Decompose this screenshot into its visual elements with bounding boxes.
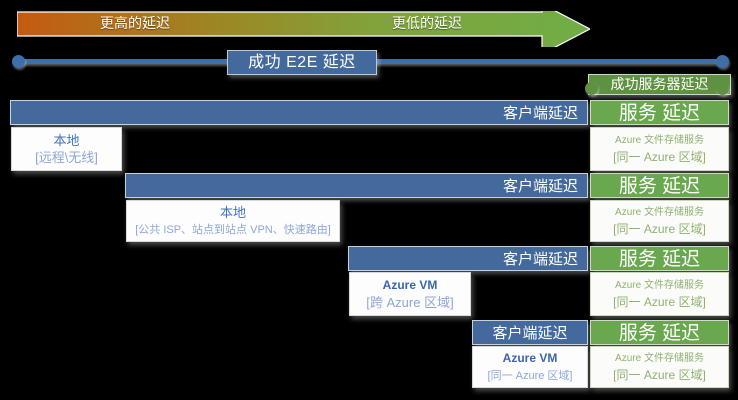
row3-client-main: Azure VM bbox=[383, 277, 438, 294]
higher-latency-label: 更高的延迟 bbox=[100, 14, 170, 32]
row2-service-main: Azure 文件存储服务 bbox=[615, 205, 704, 220]
latency-gradient-arrow: 更高的延迟 更低的延迟 bbox=[17, 11, 590, 47]
row2-client-main: 本地 bbox=[220, 204, 246, 221]
row3-service-main: Azure 文件存储服务 bbox=[615, 278, 704, 293]
row2-client-sub: [公共 ISP、站点到站点 VPN、快速路由] bbox=[135, 221, 331, 239]
row4-client-sub: [同一 Azure 区域] bbox=[488, 367, 573, 385]
row3-service-box: Azure 文件存储服务 [同一 Azure 区域] bbox=[590, 272, 729, 316]
row3-client-header: 客户端延迟 bbox=[348, 246, 588, 271]
row4-client-box: Azure VM [同一 Azure 区域] bbox=[472, 346, 588, 388]
row3-client-box: Azure VM [跨 Azure 区域] bbox=[349, 272, 471, 316]
row4-client-main: Azure VM bbox=[503, 350, 558, 367]
row1-client-main: 本地 bbox=[53, 132, 79, 149]
lower-latency-label: 更低的延迟 bbox=[392, 14, 462, 32]
row2-service-box: Azure 文件存储服务 [同一 Azure 区域] bbox=[590, 200, 729, 242]
e2e-right-endpoint-dot bbox=[716, 55, 729, 68]
e2e-latency-badge: 成功 E2E 延迟 bbox=[227, 50, 377, 75]
latency-diagram: 更高的延迟 更低的延迟 成功 E2E 延迟 成功服务器延迟 客户端延迟 服务 延… bbox=[0, 0, 738, 400]
row4-service-box: Azure 文件存储服务 [同一 Azure 区域] bbox=[590, 346, 729, 388]
row1-client-header: 客户端延迟 bbox=[10, 100, 588, 125]
e2e-left-endpoint-dot bbox=[12, 55, 25, 68]
row2-client-box: 本地 [公共 ISP、站点到站点 VPN、快速路由] bbox=[126, 200, 340, 242]
row1-client-box: 本地 [远程\无线] bbox=[11, 127, 122, 171]
row2-service-header: 服务 延迟 bbox=[590, 173, 729, 198]
row1-service-main: Azure 文件存储服务 bbox=[615, 133, 704, 148]
row4-service-header: 服务 延迟 bbox=[590, 320, 729, 345]
row1-service-box: Azure 文件存储服务 [同一 Azure 区域] bbox=[590, 127, 729, 171]
server-latency-badge: 成功服务器延迟 bbox=[588, 74, 731, 95]
row4-service-sub: [同一 Azure 区域] bbox=[613, 366, 706, 384]
server-left-endpoint-dot bbox=[585, 82, 598, 95]
row1-client-sub: [远程\无线] bbox=[35, 149, 98, 167]
row4-client-header: 客户端延迟 bbox=[472, 320, 588, 345]
row2-service-sub: [同一 Azure 区域] bbox=[613, 220, 706, 238]
row1-service-header: 服务 延迟 bbox=[590, 100, 729, 125]
row3-client-sub: [跨 Azure 区域] bbox=[366, 294, 453, 312]
row3-service-header: 服务 延迟 bbox=[590, 246, 729, 271]
server-right-endpoint-dot bbox=[716, 82, 729, 95]
row2-client-header: 客户端延迟 bbox=[125, 173, 588, 198]
row1-service-sub: [同一 Azure 区域] bbox=[613, 148, 706, 166]
row4-service-main: Azure 文件存储服务 bbox=[615, 351, 704, 366]
row3-service-sub: [同一 Azure 区域] bbox=[613, 293, 706, 311]
